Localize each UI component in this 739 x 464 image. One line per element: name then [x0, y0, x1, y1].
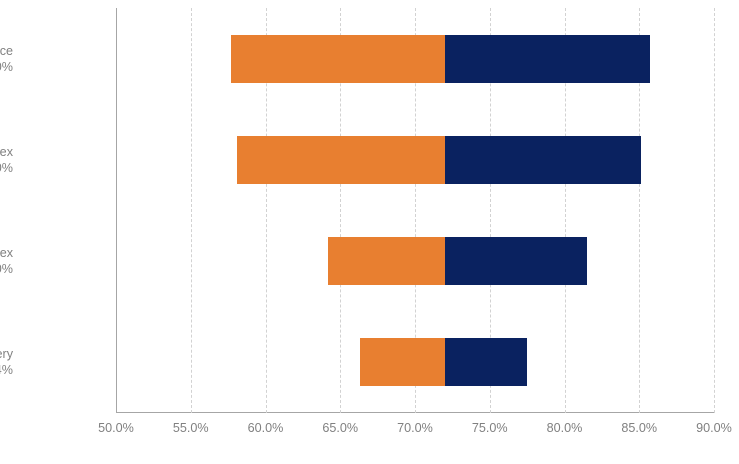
category-label: All Opex10% to -10%	[0, 144, 13, 176]
x-tick-label: 90.0%	[669, 420, 739, 436]
bar-segment-high[interactable]	[445, 338, 527, 386]
tornado-chart: Commodity Price-10% to 10%All Opex10% to…	[0, 0, 739, 464]
category-label: Recovery-4% to 4%	[0, 346, 13, 378]
bar-segment-low[interactable]	[231, 35, 445, 83]
bar-row[interactable]	[116, 237, 714, 285]
category-label-range: 10% to -10%	[0, 261, 13, 277]
bar-segment-high[interactable]	[445, 35, 650, 83]
bar-segment-low[interactable]	[237, 136, 445, 184]
category-label-range: -10% to 10%	[0, 59, 13, 75]
gridline	[714, 8, 715, 413]
category-label-name: All Opex	[0, 144, 13, 160]
category-label: Upfront Capex10% to -10%	[0, 245, 13, 277]
bar-segment-low[interactable]	[328, 237, 445, 285]
category-label-range: 10% to -10%	[0, 160, 13, 176]
category-label-name: Commodity Price	[0, 43, 13, 59]
category-label-name: Upfront Capex	[0, 245, 13, 261]
category-label: Commodity Price-10% to 10%	[0, 43, 13, 75]
bar-segment-high[interactable]	[445, 136, 641, 184]
bar-row[interactable]	[116, 35, 714, 83]
bar-row[interactable]	[116, 136, 714, 184]
bar-segment-low[interactable]	[360, 338, 445, 386]
category-label-range: -4% to 4%	[0, 362, 13, 378]
bar-segment-high[interactable]	[445, 237, 587, 285]
category-label-name: Recovery	[0, 346, 13, 362]
bar-row[interactable]	[116, 338, 714, 386]
plot-area	[116, 8, 714, 413]
